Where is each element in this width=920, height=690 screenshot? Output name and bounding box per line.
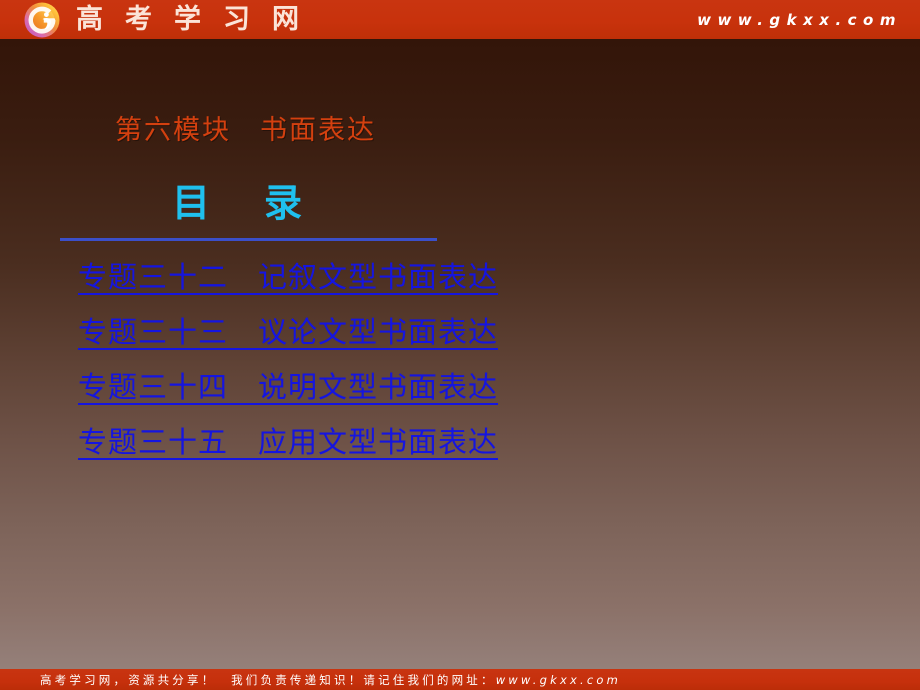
toc-link-4[interactable]: 专题三十五 应用文型书面表达 xyxy=(78,427,498,460)
footer-message-wrap: 高考学习网，资源共分享！ 我们负责传递知识！请记住我们的网址：www.gkxx.… xyxy=(40,669,621,690)
site-brand-name: 高考学习网 xyxy=(76,0,321,39)
toc-link-1[interactable]: 专题三十二 记叙文型书面表达 xyxy=(78,262,498,295)
title-divider xyxy=(60,238,437,241)
site-url-header: www.gkxx.com xyxy=(697,0,902,39)
table-of-contents: 专题三十二 记叙文型书面表达 专题三十三 议论文型书面表达 专题三十四 说明文型… xyxy=(78,262,598,482)
toc-link-2[interactable]: 专题三十三 议论文型书面表达 xyxy=(78,317,498,350)
gkxx-circle-logo-icon xyxy=(18,1,70,39)
footer-message: 高考学习网，资源共分享！ 我们负责传递知识！请记住我们的网址： xyxy=(40,673,496,687)
toc-link-3[interactable]: 专题三十四 说明文型书面表达 xyxy=(78,372,498,405)
page-title: 目 录 xyxy=(172,172,310,227)
site-url-footer: www.gkxx.com xyxy=(496,673,621,687)
site-footer-bar: 高考学习网，资源共分享！ 我们负责传递知识！请记住我们的网址：www.gkxx.… xyxy=(0,669,920,690)
site-header-bar: 高考学习网 www.gkxx.com xyxy=(0,0,920,39)
presentation-slide: 高考学习网 www.gkxx.com 第六模块 书面表达 目 录 专题三十二 记… xyxy=(0,0,920,690)
module-title: 第六模块 书面表达 xyxy=(115,108,376,147)
